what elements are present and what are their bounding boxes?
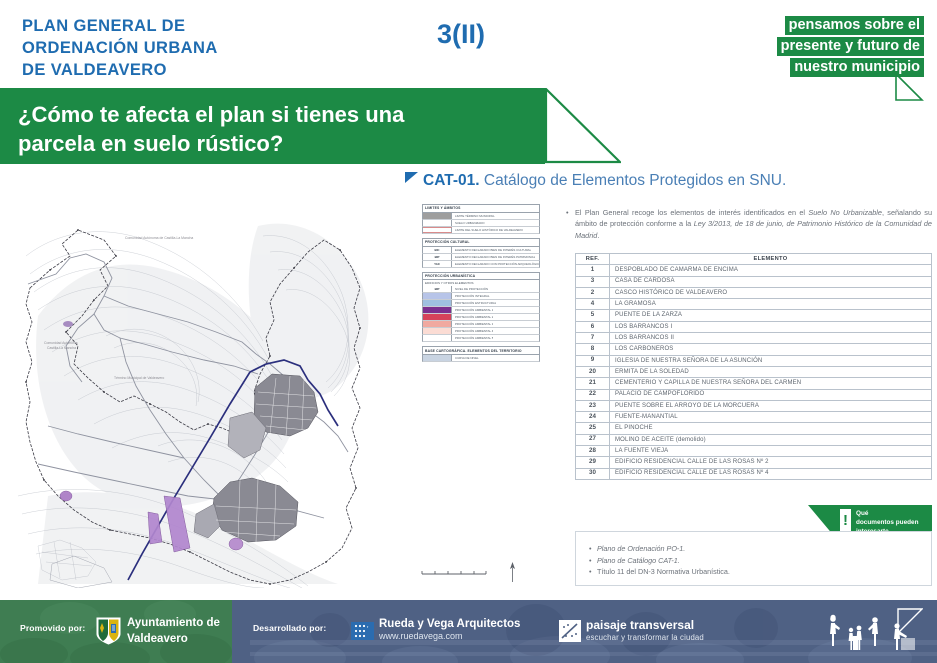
legend-swatch — [423, 328, 452, 334]
table-row[interactable]: 22PALACIO DE CAMPOFLORIDO — [576, 389, 932, 400]
table-body: 1DESPOBLADO DE CAMARMA DE ENCIMA 3CASA D… — [576, 265, 932, 480]
cell-elemento: IGLESIA DE NUESTRA SEÑORA DE LA ASUNCIÓN — [610, 355, 932, 366]
legend-swatch — [423, 307, 452, 313]
legend-row: PROTECCIÓN INTEGRAL — [422, 293, 540, 300]
question-banner: ¿Cómo te afecta el plan si tienes una pa… — [0, 88, 545, 164]
intro-text: El Plan General recoge los elementos de … — [575, 207, 932, 241]
map-north-arrow-icon — [508, 562, 517, 584]
municipality-line-2: Valdeavero — [127, 632, 220, 648]
plan-title-line-1: PLAN GENERAL DE — [22, 16, 218, 38]
bullet-marker: • — [589, 555, 597, 567]
legend-label: PROTECCIÓN AMBIENTAL 3 — [452, 321, 493, 327]
legend-label: PROTECCIÓN INTEGRAL — [452, 293, 490, 299]
column-header-elemento: ELEMENTO — [610, 254, 932, 265]
legend-row: PROTECCIÓN AMBIENTAL 4 — [422, 328, 540, 335]
table-row[interactable]: 8LOS CARBONEROS — [576, 344, 932, 355]
section-code: CAT-01. — [423, 172, 480, 189]
legend-row: CURVA DE NIVEL — [422, 355, 540, 362]
legend-label: NIVEL DE PROTECCIÓN — [452, 286, 488, 292]
table-row[interactable]: 23PUENTE SOBRE EL ARROYO DE LA MORCUERA — [576, 400, 932, 411]
cell-elemento: CASA DE CARDOSA — [610, 276, 932, 287]
cell-elemento: CEMENTERIO Y CAPILLA DE NUESTRA SEÑORA D… — [610, 378, 932, 389]
badge-line-1: Qué — [856, 509, 930, 518]
legend-row: LIMITE DEL SUELO HISTÓRICO DE VALDEAVERO — [422, 227, 540, 234]
legend-code: BIP — [423, 254, 452, 260]
cell-ref: 2 — [576, 287, 610, 298]
map-label: Comunidad Autónoma — [44, 341, 78, 345]
column-header-ref: REF. — [576, 254, 610, 265]
cell-elemento: DESPOBLADO DE CAMARMA DE ENCIMA — [610, 265, 932, 276]
studio-url[interactable]: www.ruedavega.com — [379, 631, 520, 641]
flag-triangle-icon — [405, 172, 418, 183]
municipality-line-1: Ayuntamiento de — [127, 616, 220, 632]
table-row[interactable]: 1DESPOBLADO DE CAMARMA DE ENCIMA — [576, 265, 932, 276]
cell-ref: 9 — [576, 355, 610, 366]
cell-ref: 4 — [576, 299, 610, 310]
map-scale-bar-icon — [420, 568, 488, 578]
cell-elemento: EDIFICIO RESIDENCIAL CALLE DE LAS ROSAS … — [610, 468, 932, 479]
table-row[interactable]: 28LA FUENTE VIEJA — [576, 446, 932, 457]
related-documents-box: • Plano de Ordenación PO-1. • Plano de C… — [575, 531, 932, 586]
rueda-vega-logo-icon: r — [351, 622, 374, 640]
legend-code: YAC — [423, 261, 452, 267]
map-legend: LIMITES Y ÁMBITOS LIMITE TÉRMINO MUNICIP… — [422, 204, 540, 366]
legend-label: PROTECCIÓN AMBIENTAL 2 — [452, 314, 493, 320]
legend-swatch — [423, 321, 452, 327]
legend-block-title: PROTECCIÓN CULTURAL — [422, 238, 540, 247]
document-name: Plano de Catálogo CAT-1. — [597, 555, 680, 567]
page-number: 3(II) — [437, 19, 485, 50]
legend-block-title: PROTECCIÓN URBANÍSTICA — [422, 272, 540, 281]
table-row[interactable]: 9IGLESIA DE NUESTRA SEÑORA DE LA ASUNCIÓ… — [576, 355, 932, 366]
footer-triangle-icon — [897, 608, 923, 634]
question-line-1: ¿Cómo te afecta el plan si tienes una — [18, 100, 538, 129]
list-item[interactable]: • Plano de Ordenación PO-1. — [589, 543, 931, 555]
paisaje-transversal-logo-icon — [559, 620, 581, 642]
plan-title-line-3: DE VALDEAVERO — [22, 60, 218, 82]
cell-elemento: PUENTE SOBRE EL ARROYO DE LA MORCUERA — [610, 400, 932, 411]
bullet-marker: • — [566, 207, 575, 241]
cell-ref: 7 — [576, 333, 610, 344]
intro-plain-3: . — [597, 231, 599, 240]
document-name: Título 11 del DN-3 Normativa Urbanística… — [597, 566, 730, 578]
legend-swatch — [423, 293, 452, 299]
poster-page: PLAN GENERAL DE ORDENACIÓN URBANA DE VAL… — [0, 0, 937, 663]
cell-elemento: LA GRAMOSA — [610, 299, 932, 310]
badge-line-2: documentos pueden — [856, 518, 930, 527]
map-label: Término Municipal de Valdeavero — [114, 376, 164, 380]
cell-ref: 20 — [576, 366, 610, 377]
legend-label: ELEMENTO DECLARADO CON PROTECCIÓN ARQUEO… — [452, 261, 539, 267]
studio-name: Rueda y Vega Arquitectos — [379, 618, 520, 630]
table-row[interactable]: 2CASCO HISTÓRICO DE VALDEAVERO — [576, 287, 932, 298]
legend-block-title: LIMITES Y ÁMBITOS — [422, 204, 540, 213]
legend-label: LIMITE TÉRMINO MUNICIPAL — [452, 213, 495, 219]
legend-swatch — [423, 355, 452, 361]
cell-elemento: PUENTE DE LA ZARZA — [610, 310, 932, 321]
table-row[interactable]: 6LOS BARRANCOS I — [576, 321, 932, 332]
exclamation-icon: ! — [840, 509, 851, 532]
legend-row: PROTECCIÓN AMBIENTAL 5 — [422, 335, 540, 342]
legend-swatch — [423, 220, 452, 226]
list-item[interactable]: • Plano de Catálogo CAT-1. — [589, 555, 931, 567]
cell-ref: 24 — [576, 412, 610, 423]
intro-block: • El Plan General recoge los elementos d… — [566, 207, 932, 241]
intro-plain-1: El Plan General recoge los elementos de … — [575, 208, 808, 217]
plan-title-line-2: ORDENACIÓN URBANA — [22, 38, 218, 60]
banner-triangle-icon — [545, 88, 621, 164]
cell-elemento: EL PINOCHE — [610, 423, 932, 434]
question-banner-text: ¿Cómo te afecta el plan si tienes una pa… — [18, 100, 538, 158]
legend-row: PROTECCIÓN AMBIENTAL 2 — [422, 314, 540, 321]
table-row[interactable]: 7LOS BARRANCOS II — [576, 333, 932, 344]
legend-label: LIMITE DEL SUELO HISTÓRICO DE VALDEAVERO — [452, 227, 523, 233]
cell-ref: 28 — [576, 446, 610, 457]
legend-block-limits: LIMITES Y ÁMBITOS LIMITE TÉRMINO MUNICIP… — [422, 204, 540, 234]
legend-block-urbanistic: PROTECCIÓN URBANÍSTICA EDIFICIOS Y OTROS… — [422, 272, 540, 343]
cell-ref: 25 — [576, 423, 610, 434]
table-header-row: REF. ELEMENTO — [576, 254, 932, 265]
legend-row: YAC ELEMENTO DECLARADO CON PROTECCIÓN AR… — [422, 261, 540, 268]
cell-ref: 22 — [576, 389, 610, 400]
list-item[interactable]: • Título 11 del DN-3 Normativa Urbanísti… — [589, 566, 931, 578]
table-row[interactable]: 27MOLINO DE ACEITE (demolido) — [576, 434, 932, 445]
legend-row: PROTECCIÓN AMBIENTAL 3 — [422, 321, 540, 328]
cell-ref: 23 — [576, 400, 610, 411]
legend-label: ELEMENTO DECLARADO BIEN DE INTERÉS PATRI… — [452, 254, 535, 260]
cell-elemento: EDIFICIO RESIDENCIAL CALLE DE LAS ROSAS … — [610, 457, 932, 468]
document-name: Plano de Ordenación PO-1. — [597, 543, 685, 555]
partner-tagline: escuchar y transformar la ciudad — [586, 633, 704, 642]
legend-row: BIP NIVEL DE PROTECCIÓN — [422, 286, 540, 293]
promoted-by-label: Promovido por: — [20, 623, 85, 633]
cell-elemento: LOS CARBONEROS — [610, 344, 932, 355]
legend-code: BIP — [423, 286, 452, 292]
legend-swatch — [423, 335, 452, 341]
claim-triangle-icon — [894, 72, 924, 102]
claim-line-1: pensamos sobre el — [785, 16, 924, 35]
table-row[interactable]: 29EDIFICIO RESIDENCIAL CALLE DE LAS ROSA… — [576, 457, 932, 468]
protected-elements-table: REF. ELEMENTO 1DESPOBLADO DE CAMARMA DE … — [575, 253, 932, 480]
cell-elemento: PALACIO DE CAMPOFLORIDO — [610, 389, 932, 400]
legend-label: SUELO URBANIZADO — [452, 220, 485, 226]
table-row[interactable]: 30EDIFICIO RESIDENCIAL CALLE DE LAS ROSA… — [576, 468, 932, 479]
legend-label: PROTECCIÓN ESTRUCTURAL — [452, 300, 496, 306]
claim-line-2: presente y futuro de — [777, 37, 924, 56]
table-row[interactable]: 4LA GRAMOSA — [576, 299, 932, 310]
table-row[interactable]: 20ERMITA DE LA SOLEDAD — [576, 366, 932, 377]
table-row[interactable]: 25EL PINOCHE — [576, 423, 932, 434]
bullet-marker: • — [589, 566, 597, 578]
intro-bullet: • El Plan General recoge los elementos d… — [566, 207, 932, 241]
table-row[interactable]: 5PUENTE DE LA ZARZA — [576, 310, 932, 321]
coat-of-arms-icon — [96, 617, 121, 645]
cell-elemento: LA FUENTE VIEJA — [610, 446, 932, 457]
legend-swatch — [423, 213, 452, 219]
cell-ref: 8 — [576, 344, 610, 355]
legend-row: BIC ELEMENTO DECLARADO BIEN DE INTERÉS C… — [422, 247, 540, 254]
cell-ref: 29 — [576, 457, 610, 468]
related-documents-list: • Plano de Ordenación PO-1. • Plano de C… — [589, 543, 931, 578]
map-drawing — [8, 196, 398, 588]
developed-by-label: Desarrollado por: — [253, 623, 326, 633]
claim-block: pensamos sobre el presente y futuro de n… — [777, 16, 924, 79]
legend-code: BIC — [423, 247, 452, 253]
legend-label: PROTECCIÓN AMBIENTAL 1 — [452, 307, 493, 313]
legend-label: PROTECCIÓN AMBIENTAL 4 — [452, 328, 493, 334]
cell-elemento: FUENTE-MANANTIAL — [610, 412, 932, 423]
cell-ref: 27 — [576, 434, 610, 445]
legend-swatch — [423, 300, 452, 306]
cell-elemento: ERMITA DE LA SOLEDAD — [610, 366, 932, 377]
map-label: Castilla-La Mancha — [47, 346, 76, 350]
bullet-marker: • — [589, 543, 597, 555]
cell-ref: 6 — [576, 321, 610, 332]
legend-block-cultural: PROTECCIÓN CULTURAL BIC ELEMENTO DECLARA… — [422, 238, 540, 268]
legend-swatch — [423, 227, 452, 233]
legend-row: LIMITE TÉRMINO MUNICIPAL — [422, 213, 540, 220]
studio-block: Rueda y Vega Arquitectos www.ruedavega.c… — [379, 618, 520, 641]
section-name: Catálogo de Elementos Protegidos en SNU. — [480, 172, 787, 189]
cell-elemento: MOLINO DE ACEITE (demolido) — [610, 434, 932, 445]
partner-name: paisaje transversal — [586, 618, 704, 632]
municipality-name: Ayuntamiento de Valdeavero — [127, 616, 220, 648]
cell-ref: 3 — [576, 276, 610, 287]
intro-italic-1: Suelo No Urbanizable — [808, 208, 882, 217]
map-label: Comunidad Autónoma de Castilla-La Mancha — [125, 236, 193, 240]
cell-ref: 5 — [576, 310, 610, 321]
legend-row: BIP ELEMENTO DECLARADO BIEN DE INTERÉS P… — [422, 254, 540, 261]
table-row[interactable]: 24FUENTE-MANANTIAL — [576, 412, 932, 423]
plan-title: PLAN GENERAL DE ORDENACIÓN URBANA DE VAL… — [22, 16, 218, 82]
cell-elemento: CASCO HISTÓRICO DE VALDEAVERO — [610, 287, 932, 298]
legend-block-title: BASE CARTOGRÁFICA. ELEMENTOS DEL TERRITO… — [422, 346, 540, 355]
partner-block: paisaje transversal escuchar y transform… — [586, 618, 704, 642]
legend-block-cartography: BASE CARTOGRÁFICA. ELEMENTOS DEL TERRITO… — [422, 346, 540, 362]
cell-elemento: LOS BARRANCOS II — [610, 333, 932, 344]
legend-row: PROTECCIÓN AMBIENTAL 1 — [422, 307, 540, 314]
cell-ref: 30 — [576, 468, 610, 479]
cell-elemento: LOS BARRANCOS I — [610, 321, 932, 332]
legend-label: CURVA DE NIVEL — [452, 355, 479, 361]
table-row[interactable]: 21CEMENTERIO Y CAPILLA DE NUESTRA SEÑORA… — [576, 378, 932, 389]
legend-row: SUELO URBANIZADO — [422, 220, 540, 227]
section-title: CAT-01. Catálogo de Elementos Protegidos… — [405, 172, 786, 190]
legend-label: ELEMENTO DECLARADO BIEN DE INTERÉS CULTU… — [452, 247, 531, 253]
footer: Promovido por: Ayuntamiento de Valdeaver… — [0, 600, 937, 663]
cell-ref: 21 — [576, 378, 610, 389]
legend-label: PROTECCIÓN AMBIENTAL 5 — [452, 335, 493, 341]
table-row[interactable]: 3CASA DE CARDOSA — [576, 276, 932, 287]
question-line-2: parcela en suelo rústico? — [18, 129, 538, 158]
legend-swatch — [423, 314, 452, 320]
map-figure[interactable]: Comunidad Autónoma de Castilla-La Mancha… — [8, 196, 398, 588]
cell-ref: 1 — [576, 265, 610, 276]
legend-row: PROTECCIÓN ESTRUCTURAL — [422, 300, 540, 307]
